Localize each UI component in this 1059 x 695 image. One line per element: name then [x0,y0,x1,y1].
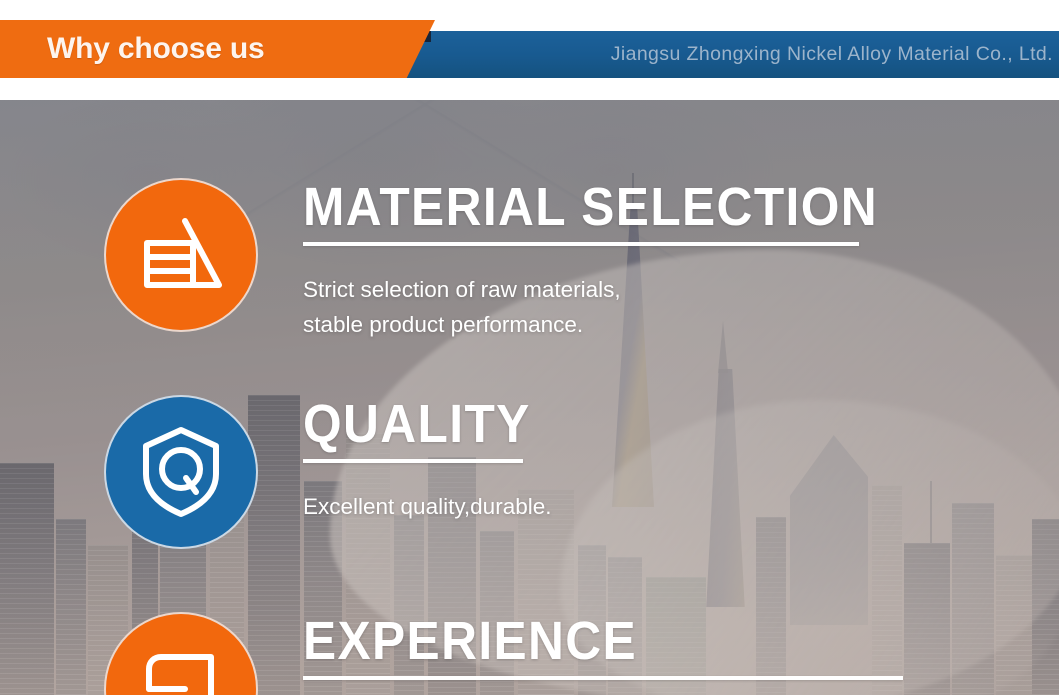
feature-heading: MATERIAL SELECTION [303,178,947,236]
promotional-banner: Jiangsu Zhongxing Nickel Alloy Material … [0,0,1059,695]
heading-underline [303,459,523,463]
feature-heading: QUALITY [303,395,947,453]
feature-description: Strict selection of raw materials, stabl… [303,272,1003,342]
heading-underline [303,676,903,680]
section-title: Why choose us [47,20,264,78]
header-bar: Jiangsu Zhongxing Nickel Alloy Material … [0,0,1059,100]
company-name: Jiangsu Zhongxing Nickel Alloy Material … [611,31,1053,78]
feature-text-block: QUALITY Excellent quality,durable. [303,395,1003,524]
feature-list: MATERIAL SELECTION Strict selection of r… [0,100,1059,695]
feature-text-block: EXPERIENCE [303,612,1003,695]
shield-q-icon [104,395,258,549]
feature-description: Excellent quality,durable. [303,489,1003,524]
company-name-ribbon: Jiangsu Zhongxing Nickel Alloy Material … [400,31,1059,78]
heading-underline [303,242,859,246]
feature-text-block: MATERIAL SELECTION Strict selection of r… [303,178,1003,342]
feature-heading: EXPERIENCE [303,612,947,670]
material-layers-icon [104,178,258,332]
rounded-square-icon [104,612,258,695]
